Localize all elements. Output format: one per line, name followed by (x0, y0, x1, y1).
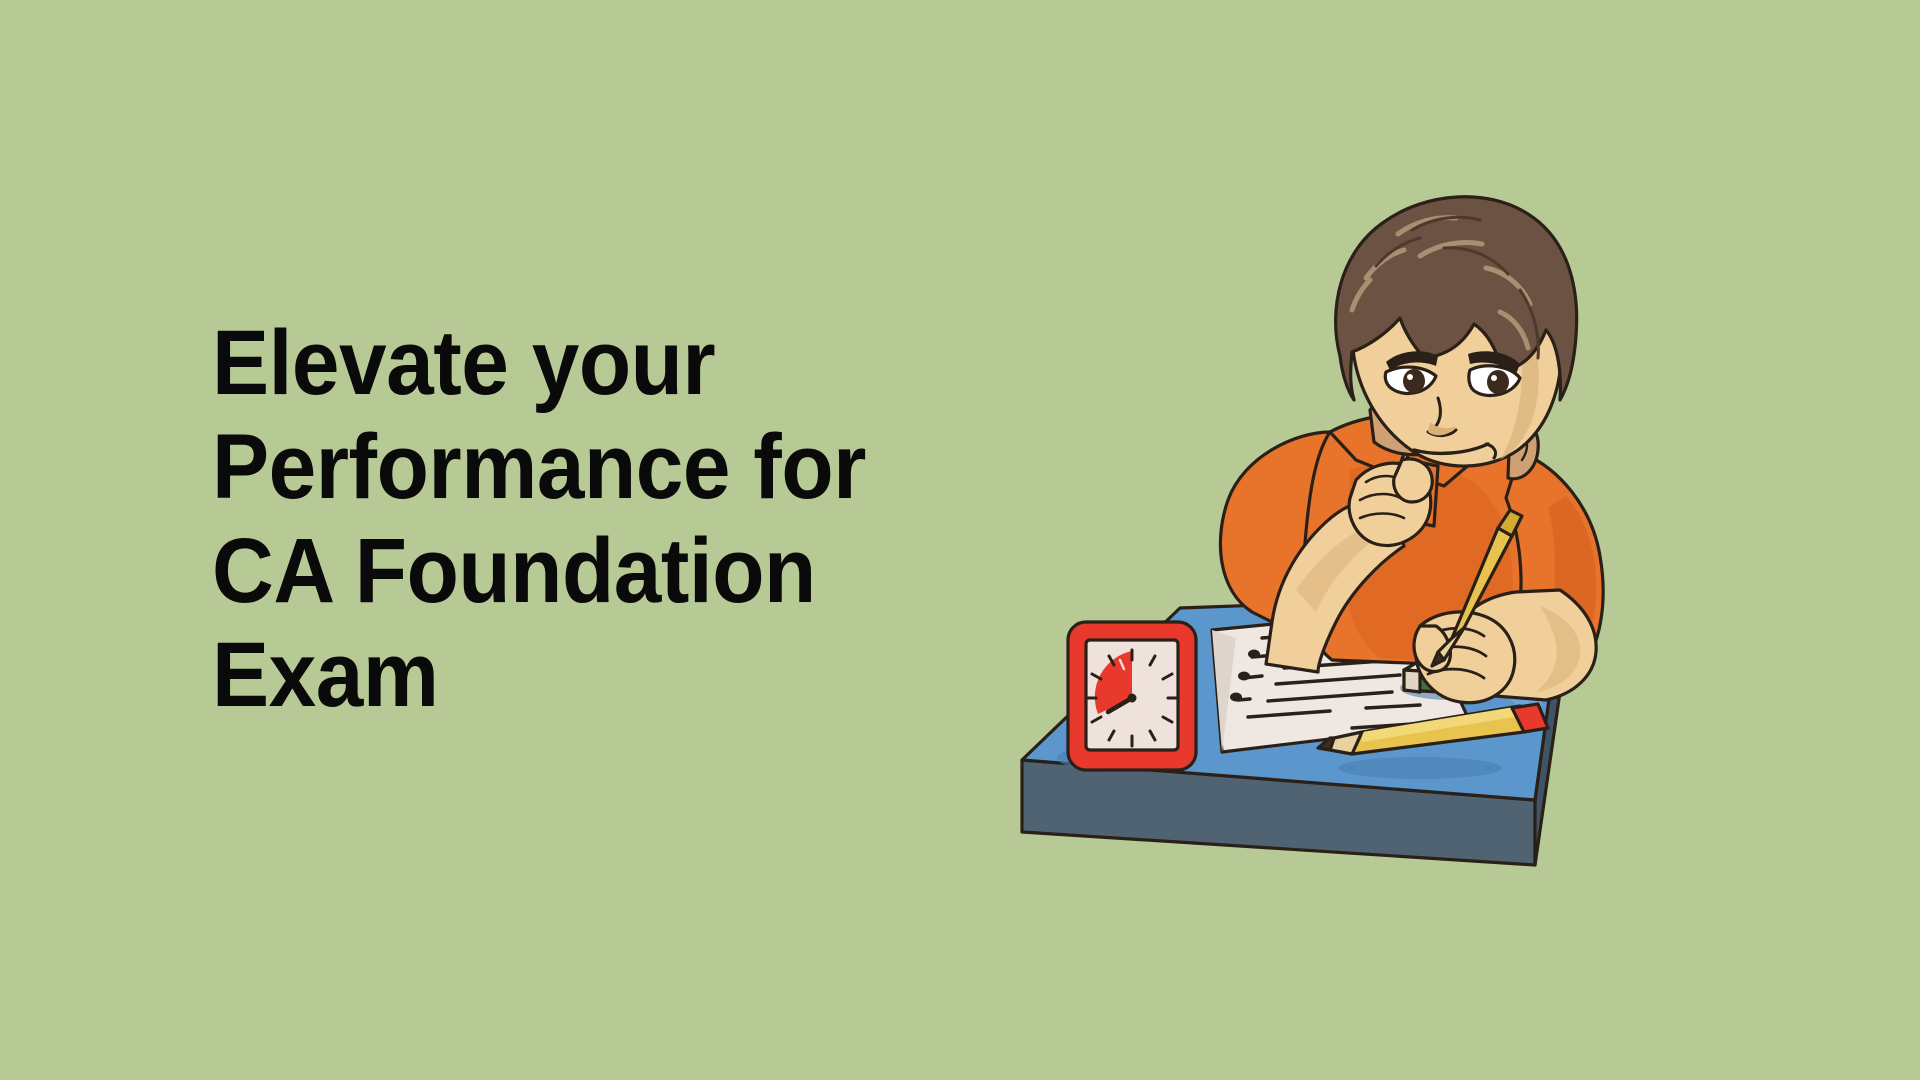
boy (1220, 197, 1603, 703)
boy-studying-illustration (1000, 160, 1720, 900)
page-title: Elevate your Performance for CA Foundati… (212, 312, 1068, 728)
clock-timer (1057, 622, 1196, 772)
promo-banner: Elevate your Performance for CA Foundati… (0, 0, 1920, 1080)
